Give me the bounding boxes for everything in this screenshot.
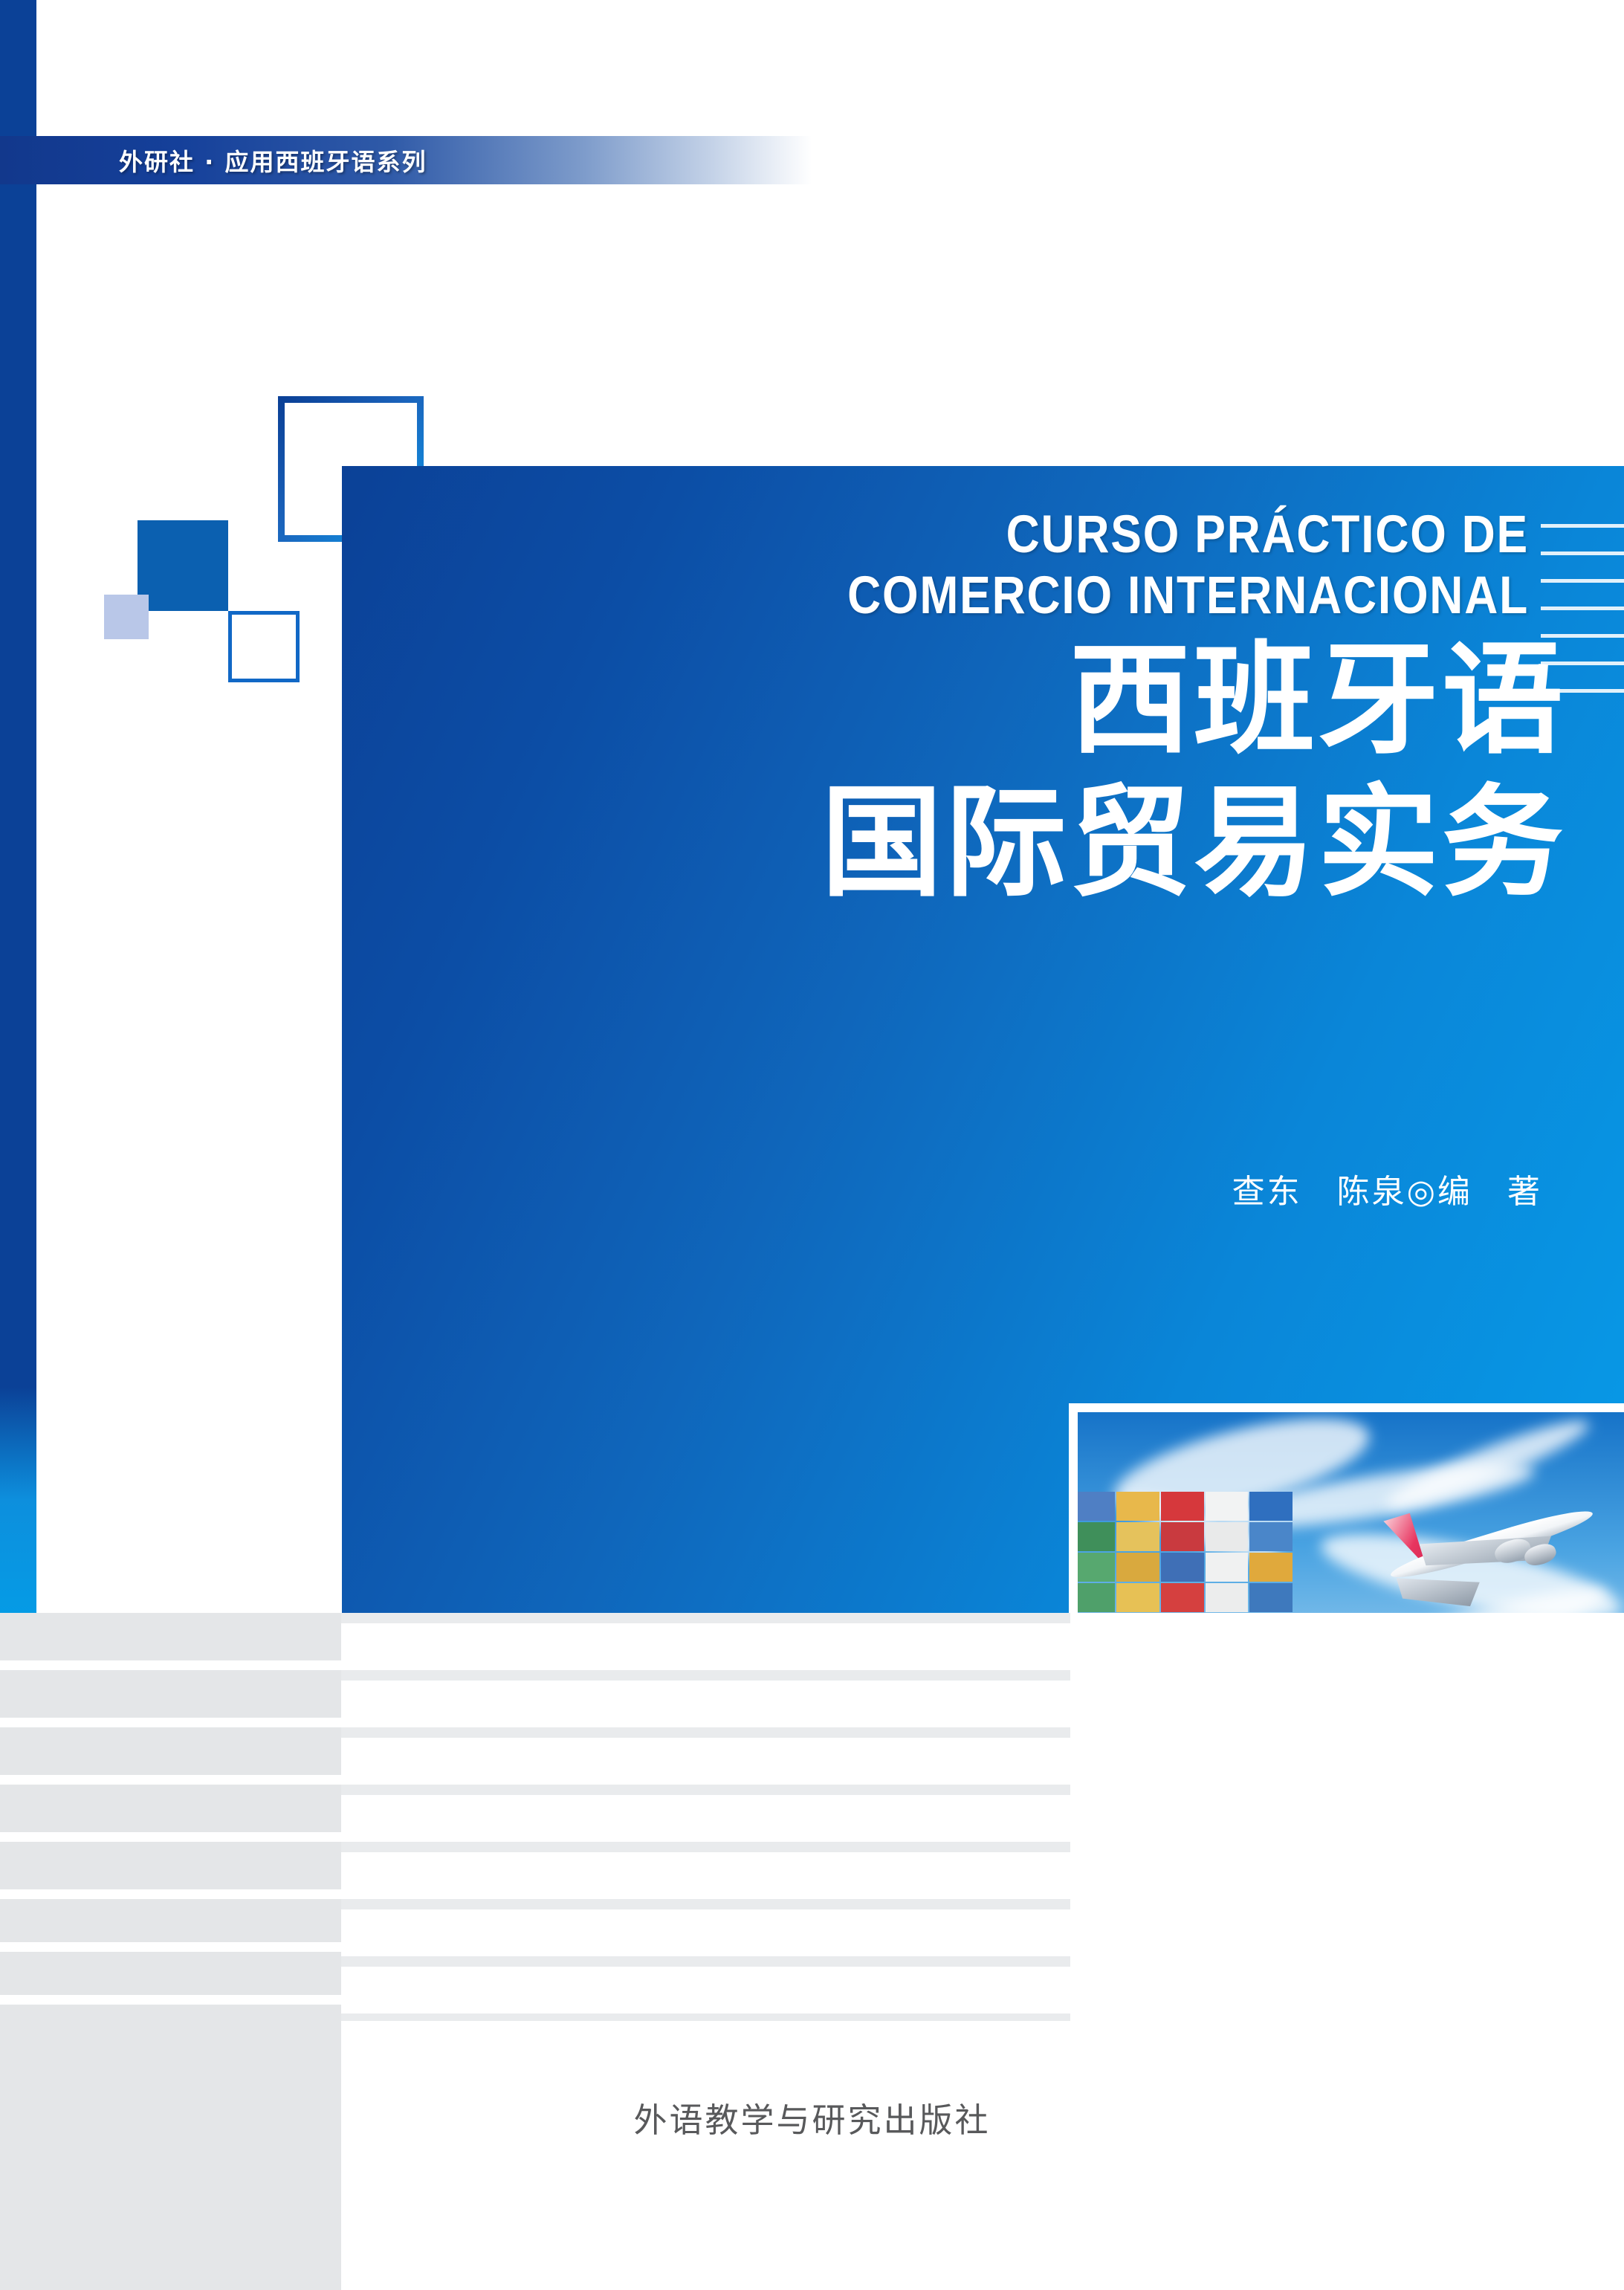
shipping-container: [1161, 1553, 1204, 1582]
series-label: 外研社 · 应用西班牙语系列: [119, 143, 427, 178]
shipping-container: [1249, 1553, 1293, 1582]
shipping-container: [1206, 1553, 1249, 1582]
ruled-line: [1541, 607, 1624, 610]
shipping-container: [1116, 1492, 1159, 1521]
shipping-container: [1161, 1492, 1204, 1521]
shipping-container: [1249, 1522, 1293, 1551]
bottom-stripe-zone: [0, 1613, 1624, 2290]
stripe-rule: [341, 2014, 1070, 2021]
stripe-column-middle: [341, 1613, 1070, 2290]
book-cover: 外研社 · 应用西班牙语系列 CURSO PRÁCTICO DE COMERCI…: [0, 0, 1624, 2290]
shipping-container: [1206, 1522, 1249, 1551]
shipping-container: [1078, 1583, 1115, 1612]
stripe-rule: [341, 1670, 1070, 1681]
series-banner: 外研社 · 应用西班牙语系列: [0, 136, 812, 184]
stripe-rule: [341, 1727, 1070, 1738]
stripe-rule: [341, 1842, 1070, 1852]
decorative-square-solid-pale: [104, 595, 149, 639]
main-title-line-1: 西班牙语: [342, 630, 1566, 772]
stripe-band: [0, 1842, 341, 1889]
shipping-container: [1078, 1553, 1115, 1582]
shipping-container: [1206, 1492, 1249, 1521]
shipping-container: [1116, 1583, 1159, 1612]
stripe-band: [0, 1727, 341, 1775]
author-line: 查东 陈泉◎编 著: [342, 1165, 1542, 1212]
stripe-band: [0, 1670, 341, 1718]
shipping-container: [1116, 1522, 1159, 1551]
shipping-container: [1078, 1492, 1115, 1521]
shipping-container: [1206, 1583, 1249, 1612]
stripe-rule: [341, 1785, 1070, 1795]
shipping-container: [1161, 1583, 1204, 1612]
shipping-container: [1249, 1492, 1293, 1521]
stripe-band: [0, 1899, 341, 1942]
left-spine-stripe: [0, 0, 36, 1613]
decorative-square-solid-blue: [138, 520, 228, 611]
stripe-rule: [341, 1956, 1070, 1967]
decorative-square-outline-small: [228, 611, 300, 682]
stripe-band: [0, 1952, 341, 1995]
stripe-rule: [341, 1899, 1070, 1909]
main-title-line-2: 国际贸易实务: [342, 772, 1566, 915]
ruled-line: [1541, 552, 1624, 555]
spanish-subtitle: CURSO PRÁCTICO DE COMERCIO INTERNACIONAL: [485, 505, 1529, 627]
shipping-container: [1116, 1553, 1159, 1582]
ruled-line: [1541, 579, 1624, 583]
stripe-column-left: [0, 1613, 341, 2290]
shipping-container: [1249, 1583, 1293, 1612]
stripe-band: [0, 1785, 341, 1832]
stripe-rule: [341, 1613, 1070, 1623]
stripe-band: [0, 1613, 341, 1660]
stripe-band: [0, 2005, 341, 2290]
shipping-container: [1161, 1522, 1204, 1551]
spanish-subtitle-line-1: CURSO PRÁCTICO DE: [485, 505, 1529, 566]
main-title: 西班牙语 国际贸易实务: [342, 630, 1566, 916]
publisher-name: 外语教学与研究出版社: [0, 2093, 1624, 2141]
shipping-container: [1078, 1522, 1115, 1551]
ruled-line: [1541, 524, 1624, 528]
spanish-subtitle-line-2: COMERCIO INTERNACIONAL: [485, 566, 1529, 627]
